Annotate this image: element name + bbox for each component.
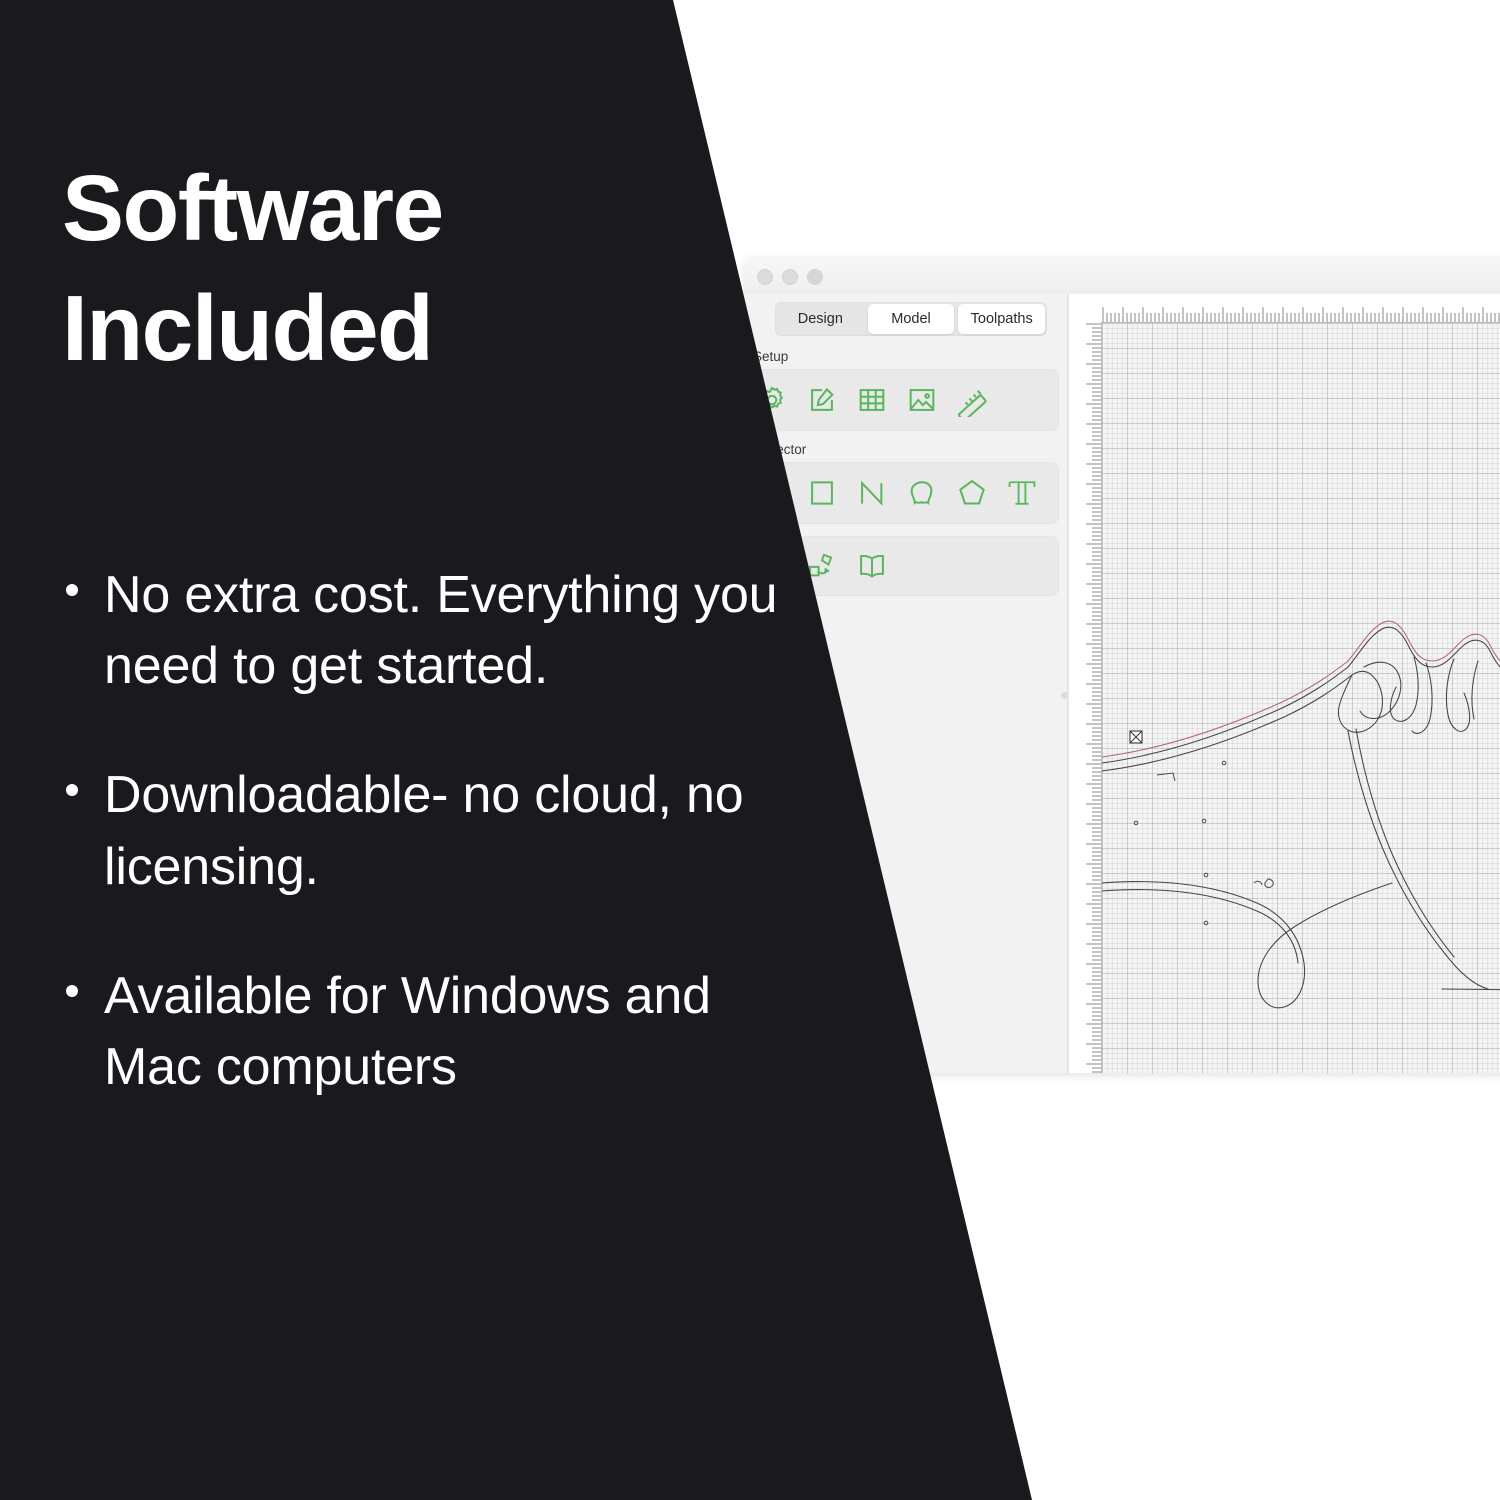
panel-splitter-handle[interactable] <box>1061 692 1068 699</box>
mode-tabs[interactable]: Design Model Toolpaths <box>775 302 1047 336</box>
text-icon <box>1005 476 1039 510</box>
headline-line-2: Included <box>62 280 622 378</box>
horizontal-ruler <box>1101 294 1500 323</box>
jordan-shoe-drawing[interactable] <box>1102 323 1500 1073</box>
tab-toolpaths[interactable]: Toolpaths <box>958 304 1045 334</box>
vertical-ruler-ticks <box>1069 322 1101 1073</box>
horizontal-ruler-ticks <box>1101 294 1500 322</box>
window-titlebar: /Jordan Shoe Push Block - C <box>745 258 1500 295</box>
ruler-corner <box>1069 294 1101 322</box>
notes-button[interactable] <box>799 377 845 423</box>
list-item: Available for Windows and Mac computers <box>56 961 786 1103</box>
draw-text-button[interactable] <box>999 470 1045 516</box>
open-library-button[interactable] <box>849 543 895 589</box>
document-edit-icon <box>805 383 839 417</box>
curve-icon <box>905 476 939 510</box>
vector-node-handle <box>1130 731 1142 743</box>
window-title: /Jordan Shoe Push Block - C <box>1155 266 1500 283</box>
draw-curve-button[interactable] <box>899 470 945 516</box>
bullet-dot-icon <box>66 784 78 796</box>
design-canvas[interactable] <box>1068 294 1500 1073</box>
draw-polygon-button[interactable] <box>949 470 995 516</box>
book-icon <box>855 549 889 583</box>
import-bitmap-button[interactable] <box>899 377 945 423</box>
polyline-icon <box>855 476 889 510</box>
pentagon-icon <box>955 476 989 510</box>
group-create-vector-label: te Vector <box>745 442 1067 457</box>
feature-text: Available for Windows and Mac computers <box>104 961 786 1103</box>
close-button[interactable] <box>757 269 773 285</box>
list-item: Downloadable- no cloud, no licensing. <box>56 760 786 902</box>
measure-button[interactable] <box>949 377 995 423</box>
square-icon <box>805 476 839 510</box>
tab-design[interactable]: Design <box>777 304 864 334</box>
screenshot-stage: /Jordan Shoe Push Block - C Design Model… <box>0 0 1500 1500</box>
group-setup-label: Setup <box>745 349 1067 364</box>
feature-list: No extra cost. Everything you need to ge… <box>56 560 786 1161</box>
bullet-dot-icon <box>66 985 78 997</box>
vertical-ruler <box>1069 322 1102 1073</box>
window-controls[interactable] <box>757 269 823 285</box>
ruler-icon <box>955 383 989 417</box>
group-setup-tools <box>745 369 1059 431</box>
grid-icon <box>855 383 889 417</box>
selected-toolpath <box>1102 621 1500 1073</box>
zoom-button[interactable] <box>807 269 823 285</box>
group-setup: Setup <box>745 349 1067 431</box>
list-item: No extra cost. Everything you need to ge… <box>56 560 786 702</box>
grid-canvas[interactable] <box>1102 323 1500 1073</box>
minimize-button[interactable] <box>782 269 798 285</box>
page-title: Software Included <box>62 160 622 377</box>
headline-line-1: Software <box>62 156 443 260</box>
feature-text: Downloadable- no cloud, no licensing. <box>104 760 786 902</box>
tab-model[interactable]: Model <box>868 304 955 334</box>
perforation-holes <box>1134 761 1273 925</box>
feature-text: No extra cost. Everything you need to ge… <box>104 560 786 702</box>
material-grid-button[interactable] <box>849 377 895 423</box>
draw-polyline-button[interactable] <box>849 470 895 516</box>
image-icon <box>905 383 939 417</box>
bullet-dot-icon <box>66 584 78 596</box>
draw-rectangle-button[interactable] <box>799 470 845 516</box>
